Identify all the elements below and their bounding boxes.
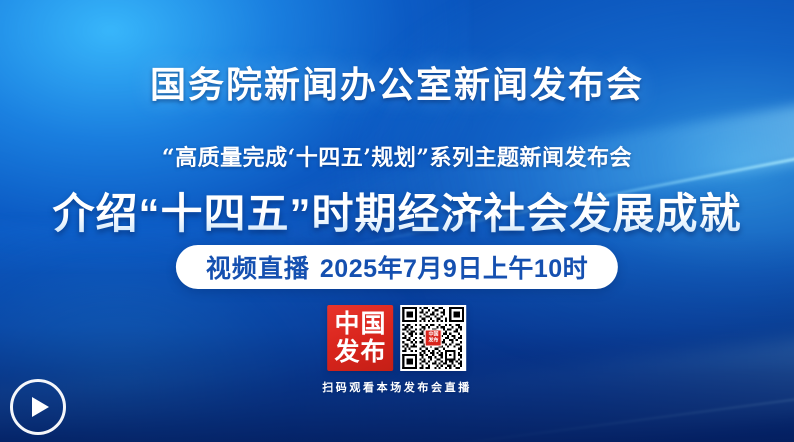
- qr-center-logo: 中国 发布: [425, 330, 442, 347]
- topic-headline: 介绍“十四五”时期经济社会发展成就: [0, 180, 794, 241]
- brand-logo-line2: 发布: [334, 339, 386, 366]
- qr-row: 中国 发布: [327, 305, 466, 371]
- live-stream-label: 视频直播: [206, 249, 310, 285]
- qr-center-line2: 发布: [428, 338, 438, 343]
- page-title: 国务院新闻办公室新闻发布会: [0, 56, 794, 108]
- qr-caption: 扫码观看本场发布会直播: [322, 379, 472, 395]
- live-schedule-badge: 视频直播 2025年7月9日上午10时: [176, 245, 618, 289]
- video-poster-frame: 国务院新闻办公室新闻发布会 “高质量完成‘十四五’规划”系列主题新闻发布会 介绍…: [0, 0, 794, 442]
- play-icon: [32, 397, 49, 417]
- qr-code[interactable]: 中国 发布: [400, 305, 466, 371]
- qr-section: 中国 发布: [322, 305, 472, 395]
- series-subtitle: “高质量完成‘十四五’规划”系列主题新闻发布会: [0, 140, 794, 172]
- china-release-logo: 中国 发布: [327, 305, 393, 371]
- live-stream-datetime: 2025年7月9日上午10时: [320, 249, 588, 285]
- brand-logo-line1: 中国: [334, 311, 386, 338]
- play-button[interactable]: [10, 379, 66, 435]
